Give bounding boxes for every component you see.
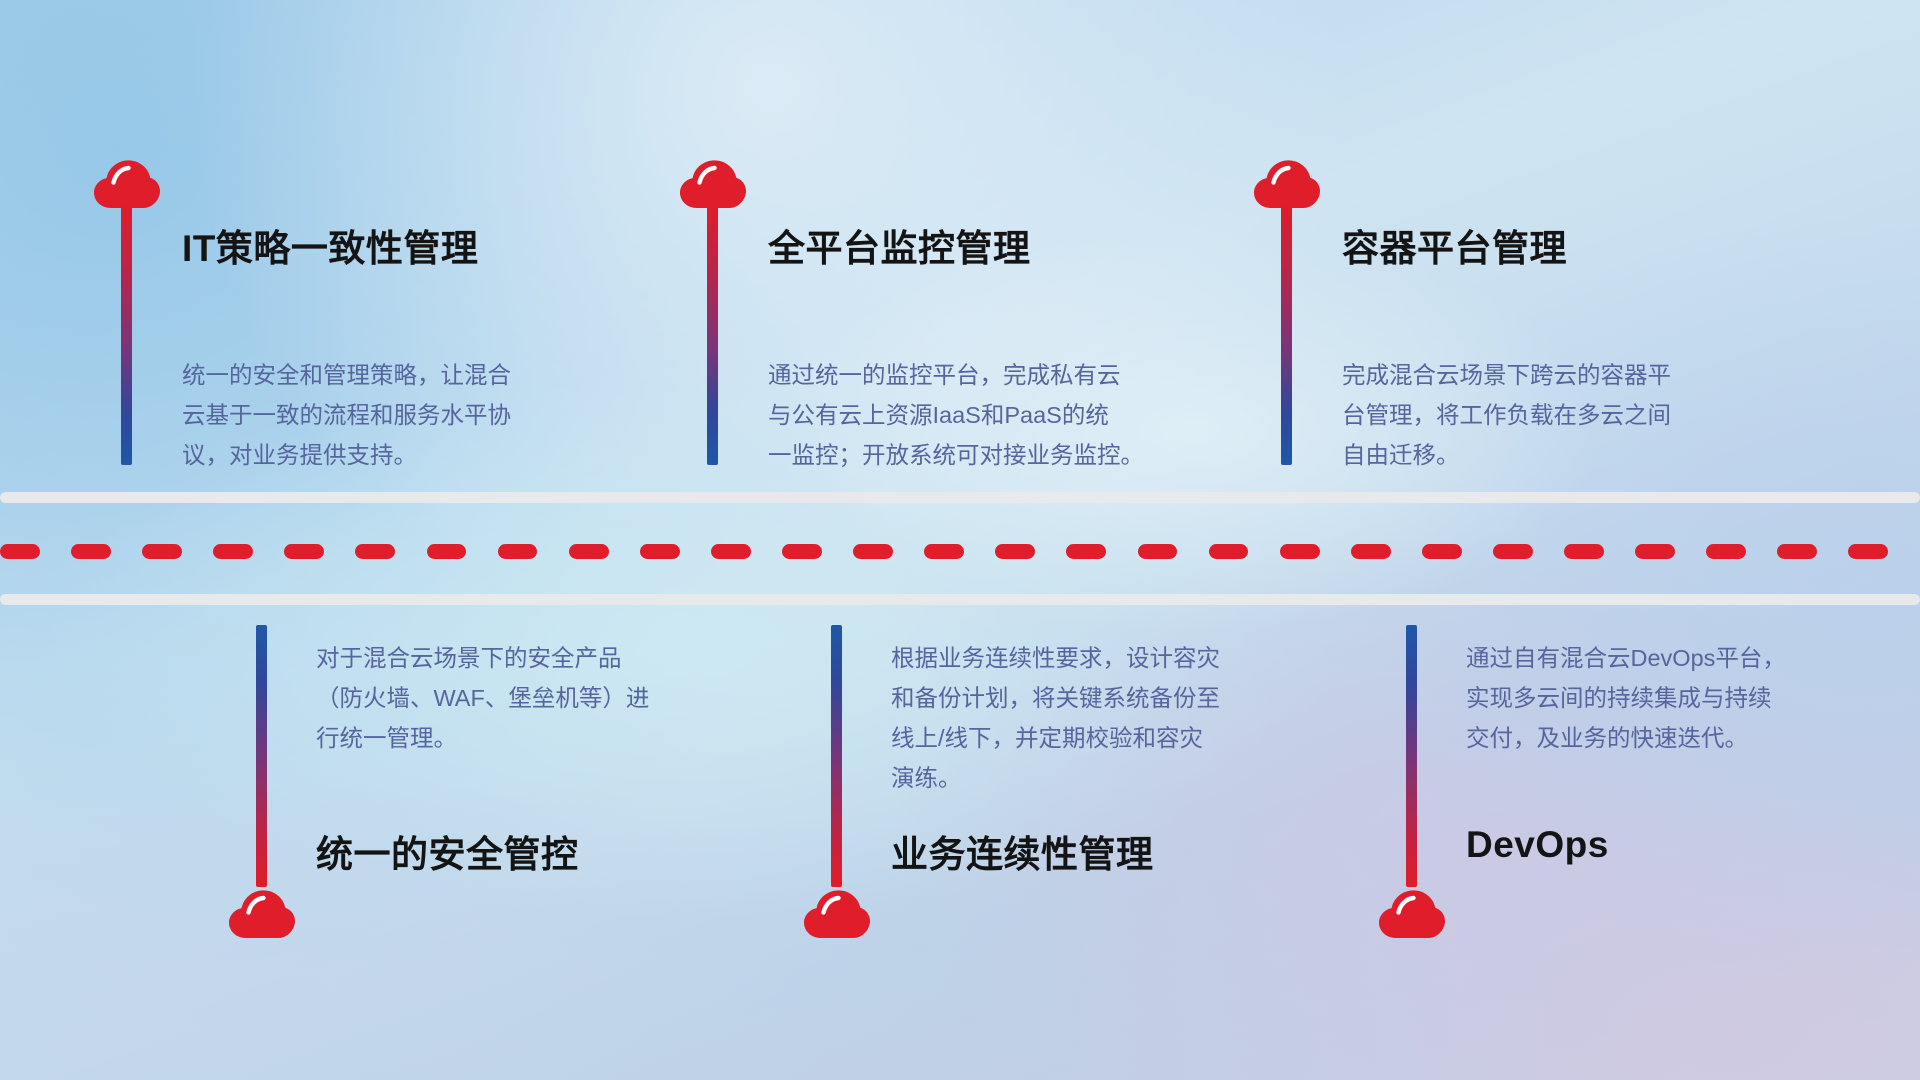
column-connector-bar [707, 205, 718, 465]
infographic-slide: IT策略一致性管理 统一的安全和管理策略，让混合 云基于一致的流程和服务水平协 … [0, 0, 1920, 1080]
road-dash [1777, 544, 1817, 559]
road-dash [1493, 544, 1533, 559]
road-dash [1066, 544, 1106, 559]
road-dash [284, 544, 324, 559]
road-dash [1564, 544, 1604, 559]
road-dash [1280, 544, 1320, 559]
road-edge-line-bottom [0, 594, 1920, 605]
road-dash [1706, 544, 1746, 559]
road-dash [355, 544, 395, 559]
feature-description: 根据业务连续性要求，设计容灾 和备份计划，将关键系统备份至 线上/线下，并定期校… [891, 638, 1311, 798]
road-dash [569, 544, 609, 559]
road-dash [0, 544, 40, 559]
column-connector-bar [256, 625, 267, 887]
feature-description: 统一的安全和管理策略，让混合 云基于一致的流程和服务水平协 议，对业务提供支持。 [182, 355, 602, 475]
column-connector-bar [831, 625, 842, 887]
road-dash [924, 544, 964, 559]
road-dash [1209, 544, 1249, 559]
feature-description: 完成混合云场景下跨云的容器平 台管理，将工作负载在多云之间 自由迁移。 [1342, 355, 1762, 475]
feature-description: 通过统一的监控平台，完成私有云 与公有云上资源IaaS和PaaS的统 一监控；开… [768, 355, 1208, 475]
column-connector-bar [1406, 625, 1417, 887]
road-dash [1351, 544, 1391, 559]
feature-heading: 统一的安全管控 [316, 824, 579, 878]
road-dash [1138, 544, 1178, 559]
cloud-icon [94, 160, 160, 210]
feature-heading: 全平台监控管理 [768, 218, 1031, 272]
cloud-icon [804, 890, 870, 940]
road-center-dashes [0, 544, 1920, 559]
road-dash [142, 544, 182, 559]
road-dash [71, 544, 111, 559]
road-dash [213, 544, 253, 559]
feature-heading: 容器平台管理 [1342, 218, 1567, 272]
column-connector-bar [121, 205, 132, 465]
road-dash [1422, 544, 1462, 559]
road-dash [853, 544, 893, 559]
cloud-icon [680, 160, 746, 210]
column-connector-bar [1281, 205, 1292, 465]
road-edge-line-top [0, 492, 1920, 503]
feature-heading: IT策略一致性管理 [182, 218, 478, 272]
feature-description: 通过自有混合云DevOps平台， 实现多云间的持续集成与持续 交付，及业务的快速… [1466, 638, 1886, 758]
road-dash [498, 544, 538, 559]
cloud-icon [229, 890, 295, 940]
cloud-icon [1254, 160, 1320, 210]
road-dash [1848, 544, 1888, 559]
feature-description: 对于混合云场景下的安全产品 （防火墙、WAF、堡垒机等）进 行统一管理。 [316, 638, 736, 758]
feature-heading: 业务连续性管理 [891, 824, 1154, 878]
feature-heading: DevOps [1466, 824, 1609, 866]
road-dash [782, 544, 822, 559]
cloud-icon [1379, 890, 1445, 940]
road-dash [711, 544, 751, 559]
road-dash [1635, 544, 1675, 559]
road-dash [640, 544, 680, 559]
road-dash [427, 544, 467, 559]
road-dash [995, 544, 1035, 559]
